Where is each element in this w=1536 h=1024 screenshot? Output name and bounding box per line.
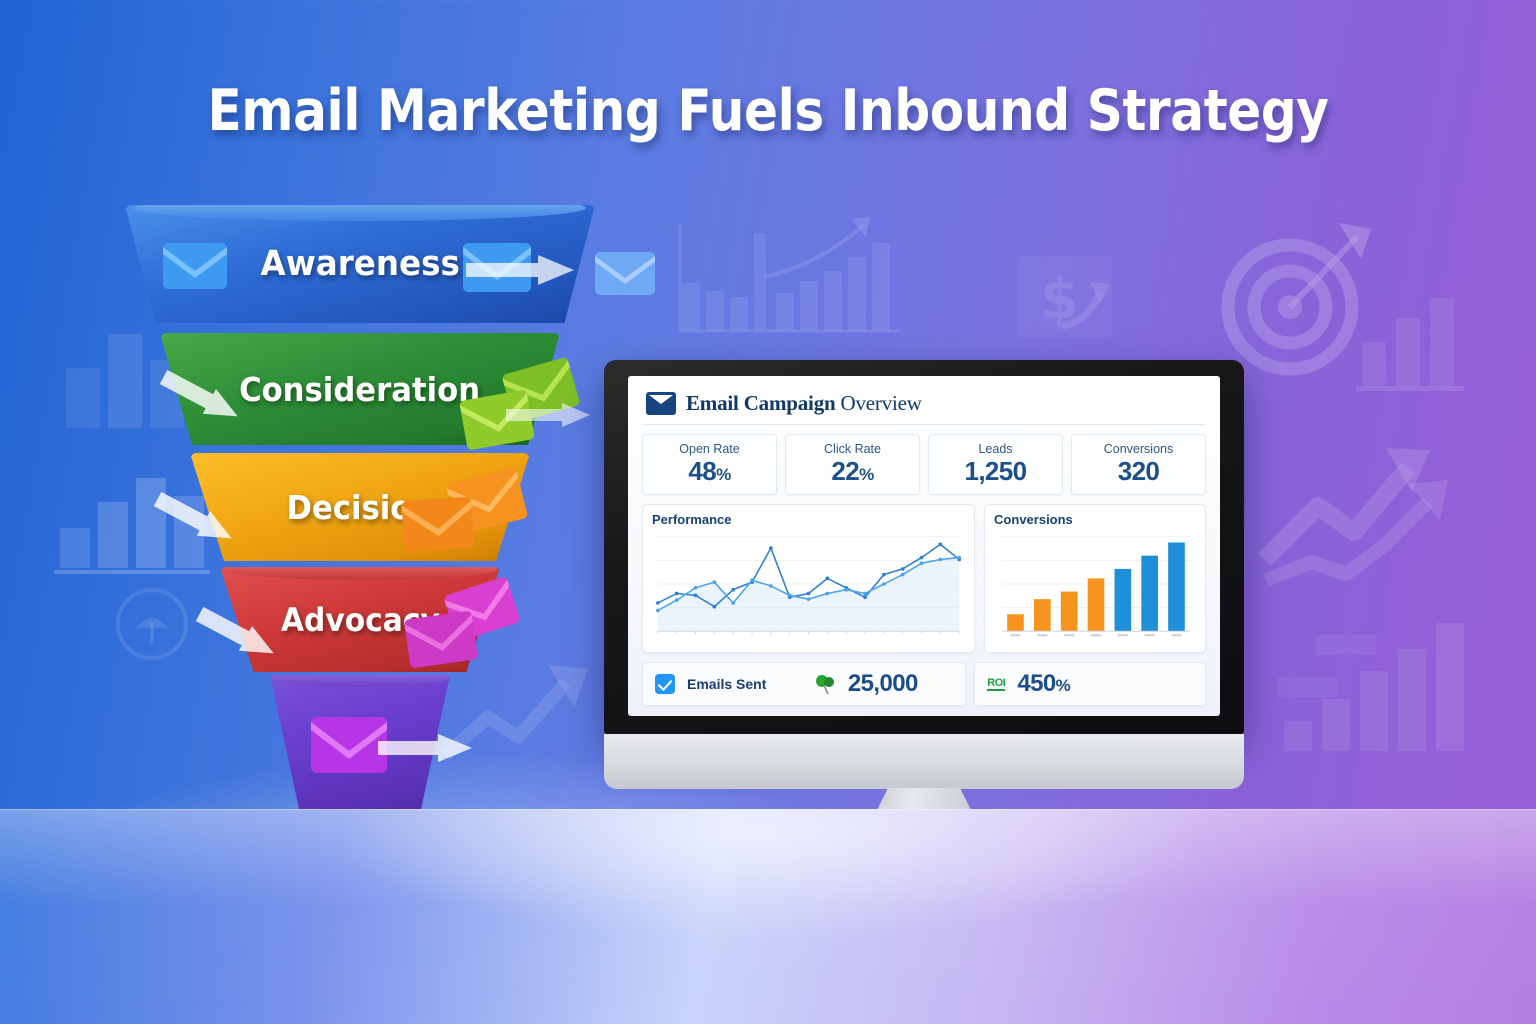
monitor-bezel: Email Campaign Overview Open Rate 48% Cl… xyxy=(604,360,1244,734)
dollar-sign-icon: $ xyxy=(1000,248,1120,348)
kpi-suffix: % xyxy=(716,465,731,484)
roi-value: 450% xyxy=(1017,670,1070,698)
kpi-value: 320 xyxy=(1078,458,1199,485)
dashboard-screen: Email Campaign Overview Open Rate 48% Cl… xyxy=(628,376,1220,716)
conversions-bar-chart xyxy=(994,531,1196,647)
roi-label: ROI xyxy=(987,677,1005,691)
bar-chart-icon xyxy=(1270,595,1470,755)
envelope-icon xyxy=(162,241,228,291)
flow-arrow-right-icon xyxy=(466,253,576,287)
roi-card[interactable]: ROI 450% xyxy=(974,662,1206,706)
svg-text:$: $ xyxy=(1040,267,1079,332)
roi-suffix: % xyxy=(1056,676,1071,695)
envelope-icon xyxy=(403,608,480,670)
status-bar: Emails Sent 25,000 ROI 450% xyxy=(642,662,1206,706)
desktop-monitor: Email Campaign Overview Open Rate 48% Cl… xyxy=(604,360,1244,860)
kpi-suffix: % xyxy=(859,465,874,484)
kpi-label: Click Rate xyxy=(792,442,913,456)
kpi-value: 22% xyxy=(792,458,913,485)
charts-row: Performance Conversions xyxy=(642,504,1206,653)
dashboard-header: Email Campaign Overview xyxy=(642,388,1206,425)
performance-chart-card[interactable]: Performance xyxy=(642,504,975,653)
growth-bar-chart-icon xyxy=(668,205,908,345)
emails-sent-value: 25,000 xyxy=(848,670,918,698)
dashboard-title: Email Campaign Overview xyxy=(686,391,922,416)
bar-chart-icon xyxy=(1350,290,1470,395)
envelope-icon xyxy=(310,715,388,775)
kpi-card-click-rate[interactable]: Click Rate 22% xyxy=(785,434,920,495)
kpi-card-conversions[interactable]: Conversions 320 xyxy=(1071,434,1206,495)
monitor-chin xyxy=(604,734,1244,789)
kpi-card-leads[interactable]: Leads 1,250 xyxy=(928,434,1063,495)
kpi-number: 22 xyxy=(831,456,859,486)
kpi-row: Open Rate 48% Click Rate 22% Leads 1,250… xyxy=(642,434,1206,495)
page-title: Email Marketing Fuels Inbound Strategy xyxy=(92,78,1444,144)
funnel-stage-label: Consideration xyxy=(239,370,480,409)
chart-title: Performance xyxy=(652,512,965,527)
dashboard-title-bold: Email Campaign xyxy=(686,391,835,415)
kpi-number: 320 xyxy=(1118,456,1160,486)
tree-icon xyxy=(814,673,836,695)
kpi-label: Conversions xyxy=(1078,442,1199,456)
conversions-chart-card[interactable]: Conversions xyxy=(984,504,1206,653)
kpi-card-open-rate[interactable]: Open Rate 48% xyxy=(642,434,777,495)
emails-sent-card[interactable]: Emails Sent 25,000 xyxy=(642,662,966,706)
chart-title: Conversions xyxy=(994,512,1196,527)
kpi-value: 1,250 xyxy=(935,458,1056,485)
performance-line-chart xyxy=(652,531,965,647)
kpi-label: Open Rate xyxy=(649,442,770,456)
envelope-icon xyxy=(594,250,656,297)
flow-arrow-right-icon xyxy=(506,401,592,429)
kpi-number: 1,250 xyxy=(964,456,1026,486)
envelope-icon xyxy=(400,495,476,555)
roi-number: 450 xyxy=(1017,670,1055,697)
funnel-stage-label: Awareness xyxy=(260,244,459,284)
kpi-number: 48 xyxy=(688,456,716,486)
kpi-label: Leads xyxy=(935,442,1056,456)
floor-reflection xyxy=(0,809,1536,1024)
growth-arrow-icon xyxy=(1258,440,1536,610)
kpi-value: 48% xyxy=(649,458,770,485)
marketing-funnel: Awareness Consideration Decision Advocac… xyxy=(110,205,610,845)
dashboard-title-light: Overview xyxy=(835,391,921,415)
envelope-icon xyxy=(646,392,676,415)
emails-sent-label: Emails Sent xyxy=(687,676,766,692)
flow-arrow-right-icon xyxy=(378,732,474,764)
checkbox-icon[interactable] xyxy=(655,674,675,694)
